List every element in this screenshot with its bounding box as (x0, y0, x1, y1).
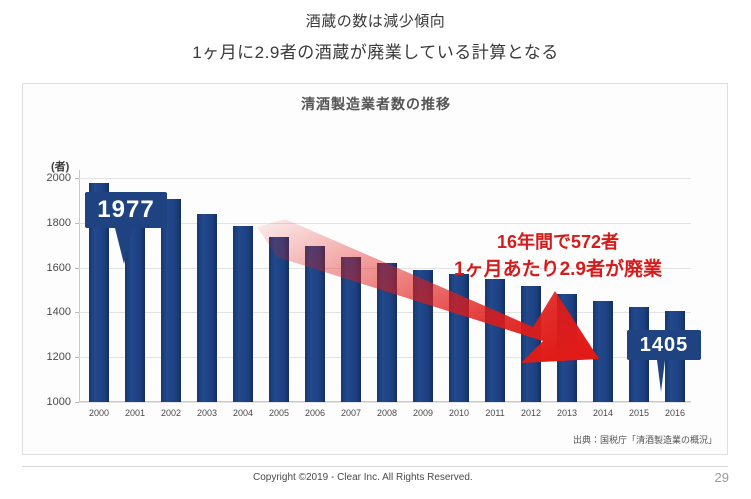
x-tick-label: 2001 (118, 408, 152, 418)
callout-value-start: 1977 (85, 192, 167, 228)
bar-2005 (269, 237, 289, 402)
y-tick-label: 1200 (47, 351, 71, 363)
y-tick-label: 1600 (47, 262, 71, 274)
bar-2008 (377, 263, 397, 402)
y-tick-mark (75, 312, 79, 313)
slide-heading-line-2: 1ヶ月に2.9者の酒蔵が廃業している計算となる (0, 38, 751, 63)
annotation-text-line-2: 1ヶ月あたり2.9者が廃業 (408, 254, 708, 281)
footer-copyright: Copyright ©2019 - Clear Inc. All Rights … (253, 472, 473, 483)
y-tick-mark (75, 357, 79, 358)
y-axis-line (79, 170, 80, 402)
y-tick-mark (75, 178, 79, 179)
y-tick-mark (75, 223, 79, 224)
x-tick-label: 2016 (658, 408, 692, 418)
slide-heading-line-1: 酒蔵の数は減少傾向 (0, 10, 751, 31)
y-tick-label: 1800 (47, 217, 71, 229)
y-tick-label: 1000 (47, 396, 71, 408)
x-tick-label: 2008 (370, 408, 404, 418)
x-tick-label: 2014 (586, 408, 620, 418)
bar-2004 (233, 226, 253, 403)
bar-2002 (161, 199, 181, 402)
callout-value-end: 1405 (627, 330, 701, 360)
annotation-text-line-1: 16年間で572者 (408, 228, 708, 254)
x-tick-label: 2010 (442, 408, 476, 418)
gridline (79, 178, 691, 179)
y-tick-mark (75, 268, 79, 269)
x-tick-label: 2012 (514, 408, 548, 418)
bar-2007 (341, 257, 361, 402)
bar-2011 (485, 279, 505, 402)
chart-source-note: 出典：国税庁「清酒製造業の概況」 (573, 433, 717, 446)
x-tick-label: 2003 (190, 408, 224, 418)
bar-2012 (521, 286, 541, 402)
x-tick-label: 2006 (298, 408, 332, 418)
plot-area: 200018001600140012001000 200020012002200… (79, 178, 691, 402)
y-tick-label: 2000 (47, 172, 71, 184)
footer-page-number: 29 (715, 470, 729, 485)
x-tick-label: 2007 (334, 408, 368, 418)
bar-2009 (413, 270, 433, 402)
bar-2014 (593, 301, 613, 402)
y-tick-mark (75, 402, 79, 403)
x-tick-label: 2002 (154, 408, 188, 418)
footer-divider (22, 466, 728, 467)
bar-2006 (305, 246, 325, 402)
bar-2010 (449, 274, 469, 402)
bar-2013 (557, 294, 577, 402)
gridline (79, 402, 691, 403)
chart-title: 清酒製造業者数の推移 (23, 94, 728, 114)
bar-2003 (197, 214, 217, 402)
x-tick-label: 2000 (82, 408, 116, 418)
x-tick-label: 2011 (478, 408, 512, 418)
x-tick-label: 2013 (550, 408, 584, 418)
x-tick-label: 2005 (262, 408, 296, 418)
callout-tail-start (115, 228, 133, 264)
x-tick-label: 2015 (622, 408, 656, 418)
callout-tail-end (657, 360, 665, 392)
x-tick-label: 2004 (226, 408, 260, 418)
y-tick-label: 1400 (47, 306, 71, 318)
chart-card: 清酒製造業者数の推移 (者) 200018001600140012001000 … (22, 83, 728, 455)
x-tick-label: 2009 (406, 408, 440, 418)
